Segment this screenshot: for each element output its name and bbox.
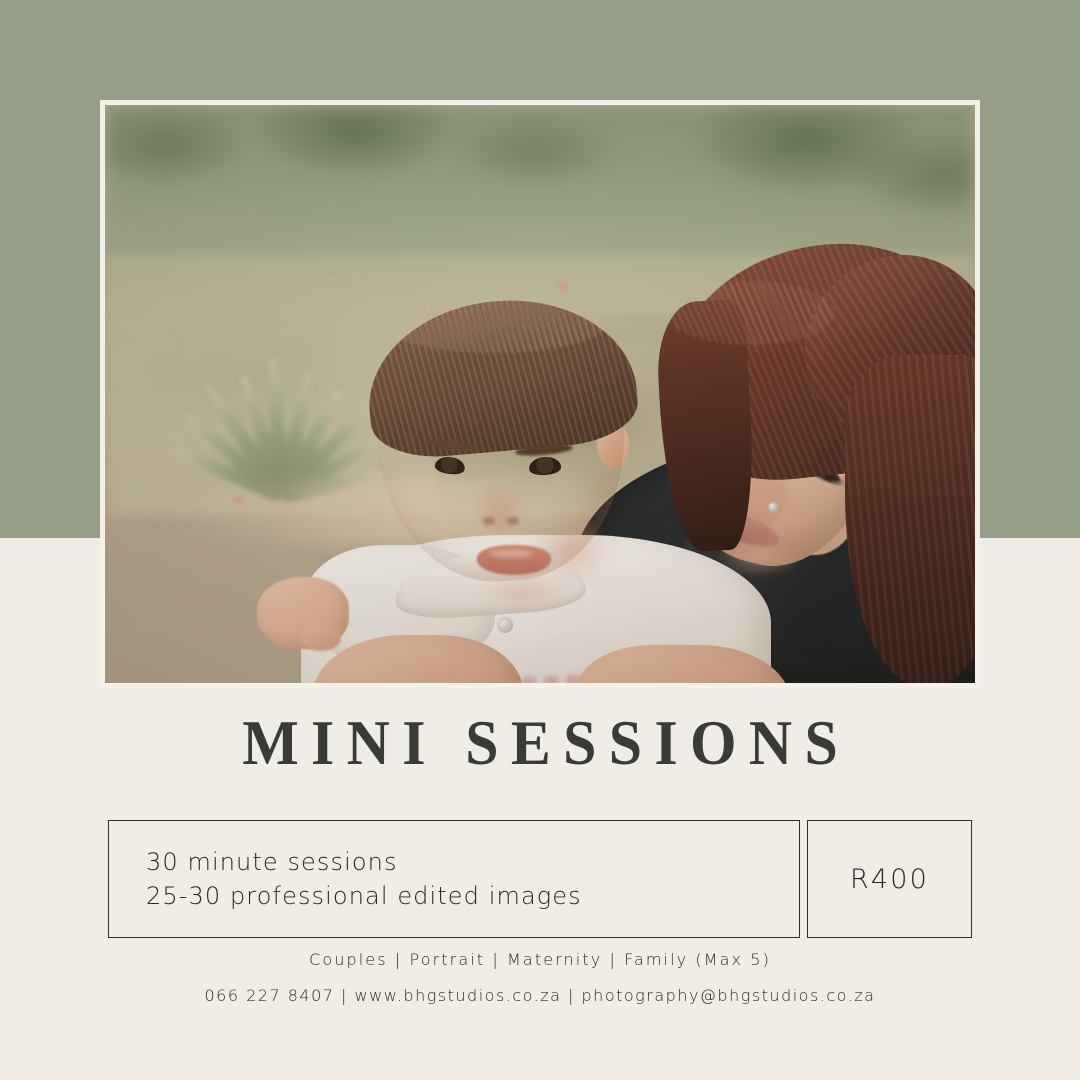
contact-line: 066 227 8407 | www.bhgstudios.co.za | ph… xyxy=(0,986,1080,1005)
baby-snap-button xyxy=(497,617,513,633)
services-list: Couples | Portrait | Maternity | Family … xyxy=(0,950,1080,969)
baby-nostril-right xyxy=(507,517,519,525)
baby-nose xyxy=(473,481,527,533)
wildflower xyxy=(557,283,568,291)
price-value: R400 xyxy=(850,864,929,895)
baby-lip-highlight xyxy=(489,549,533,558)
package-description-box: 30 minute sessions 25-30 professional ed… xyxy=(108,820,800,938)
woman-hair-wisps xyxy=(665,281,835,345)
hero-photograph xyxy=(105,105,975,683)
nose-stud xyxy=(769,503,777,511)
price-box: R400 xyxy=(807,820,972,938)
page-title: MINI SESSIONS xyxy=(27,712,1053,775)
poster-canvas: MINI SESSIONS 30 minute sessions 25-30 p… xyxy=(0,0,1080,1080)
photo-frame xyxy=(100,100,980,688)
baby-chin xyxy=(477,571,569,615)
baby-hair-wisps xyxy=(385,297,605,353)
package-details-row: 30 minute sessions 25-30 professional ed… xyxy=(108,820,972,938)
package-line-2: 25-30 professional edited images xyxy=(146,882,799,910)
footer: Couples | Portrait | Maternity | Family … xyxy=(0,950,1080,1005)
package-line-1: 30 minute sessions xyxy=(146,848,799,876)
baby-thumb xyxy=(301,625,341,651)
baby-nostril-left xyxy=(483,517,495,525)
